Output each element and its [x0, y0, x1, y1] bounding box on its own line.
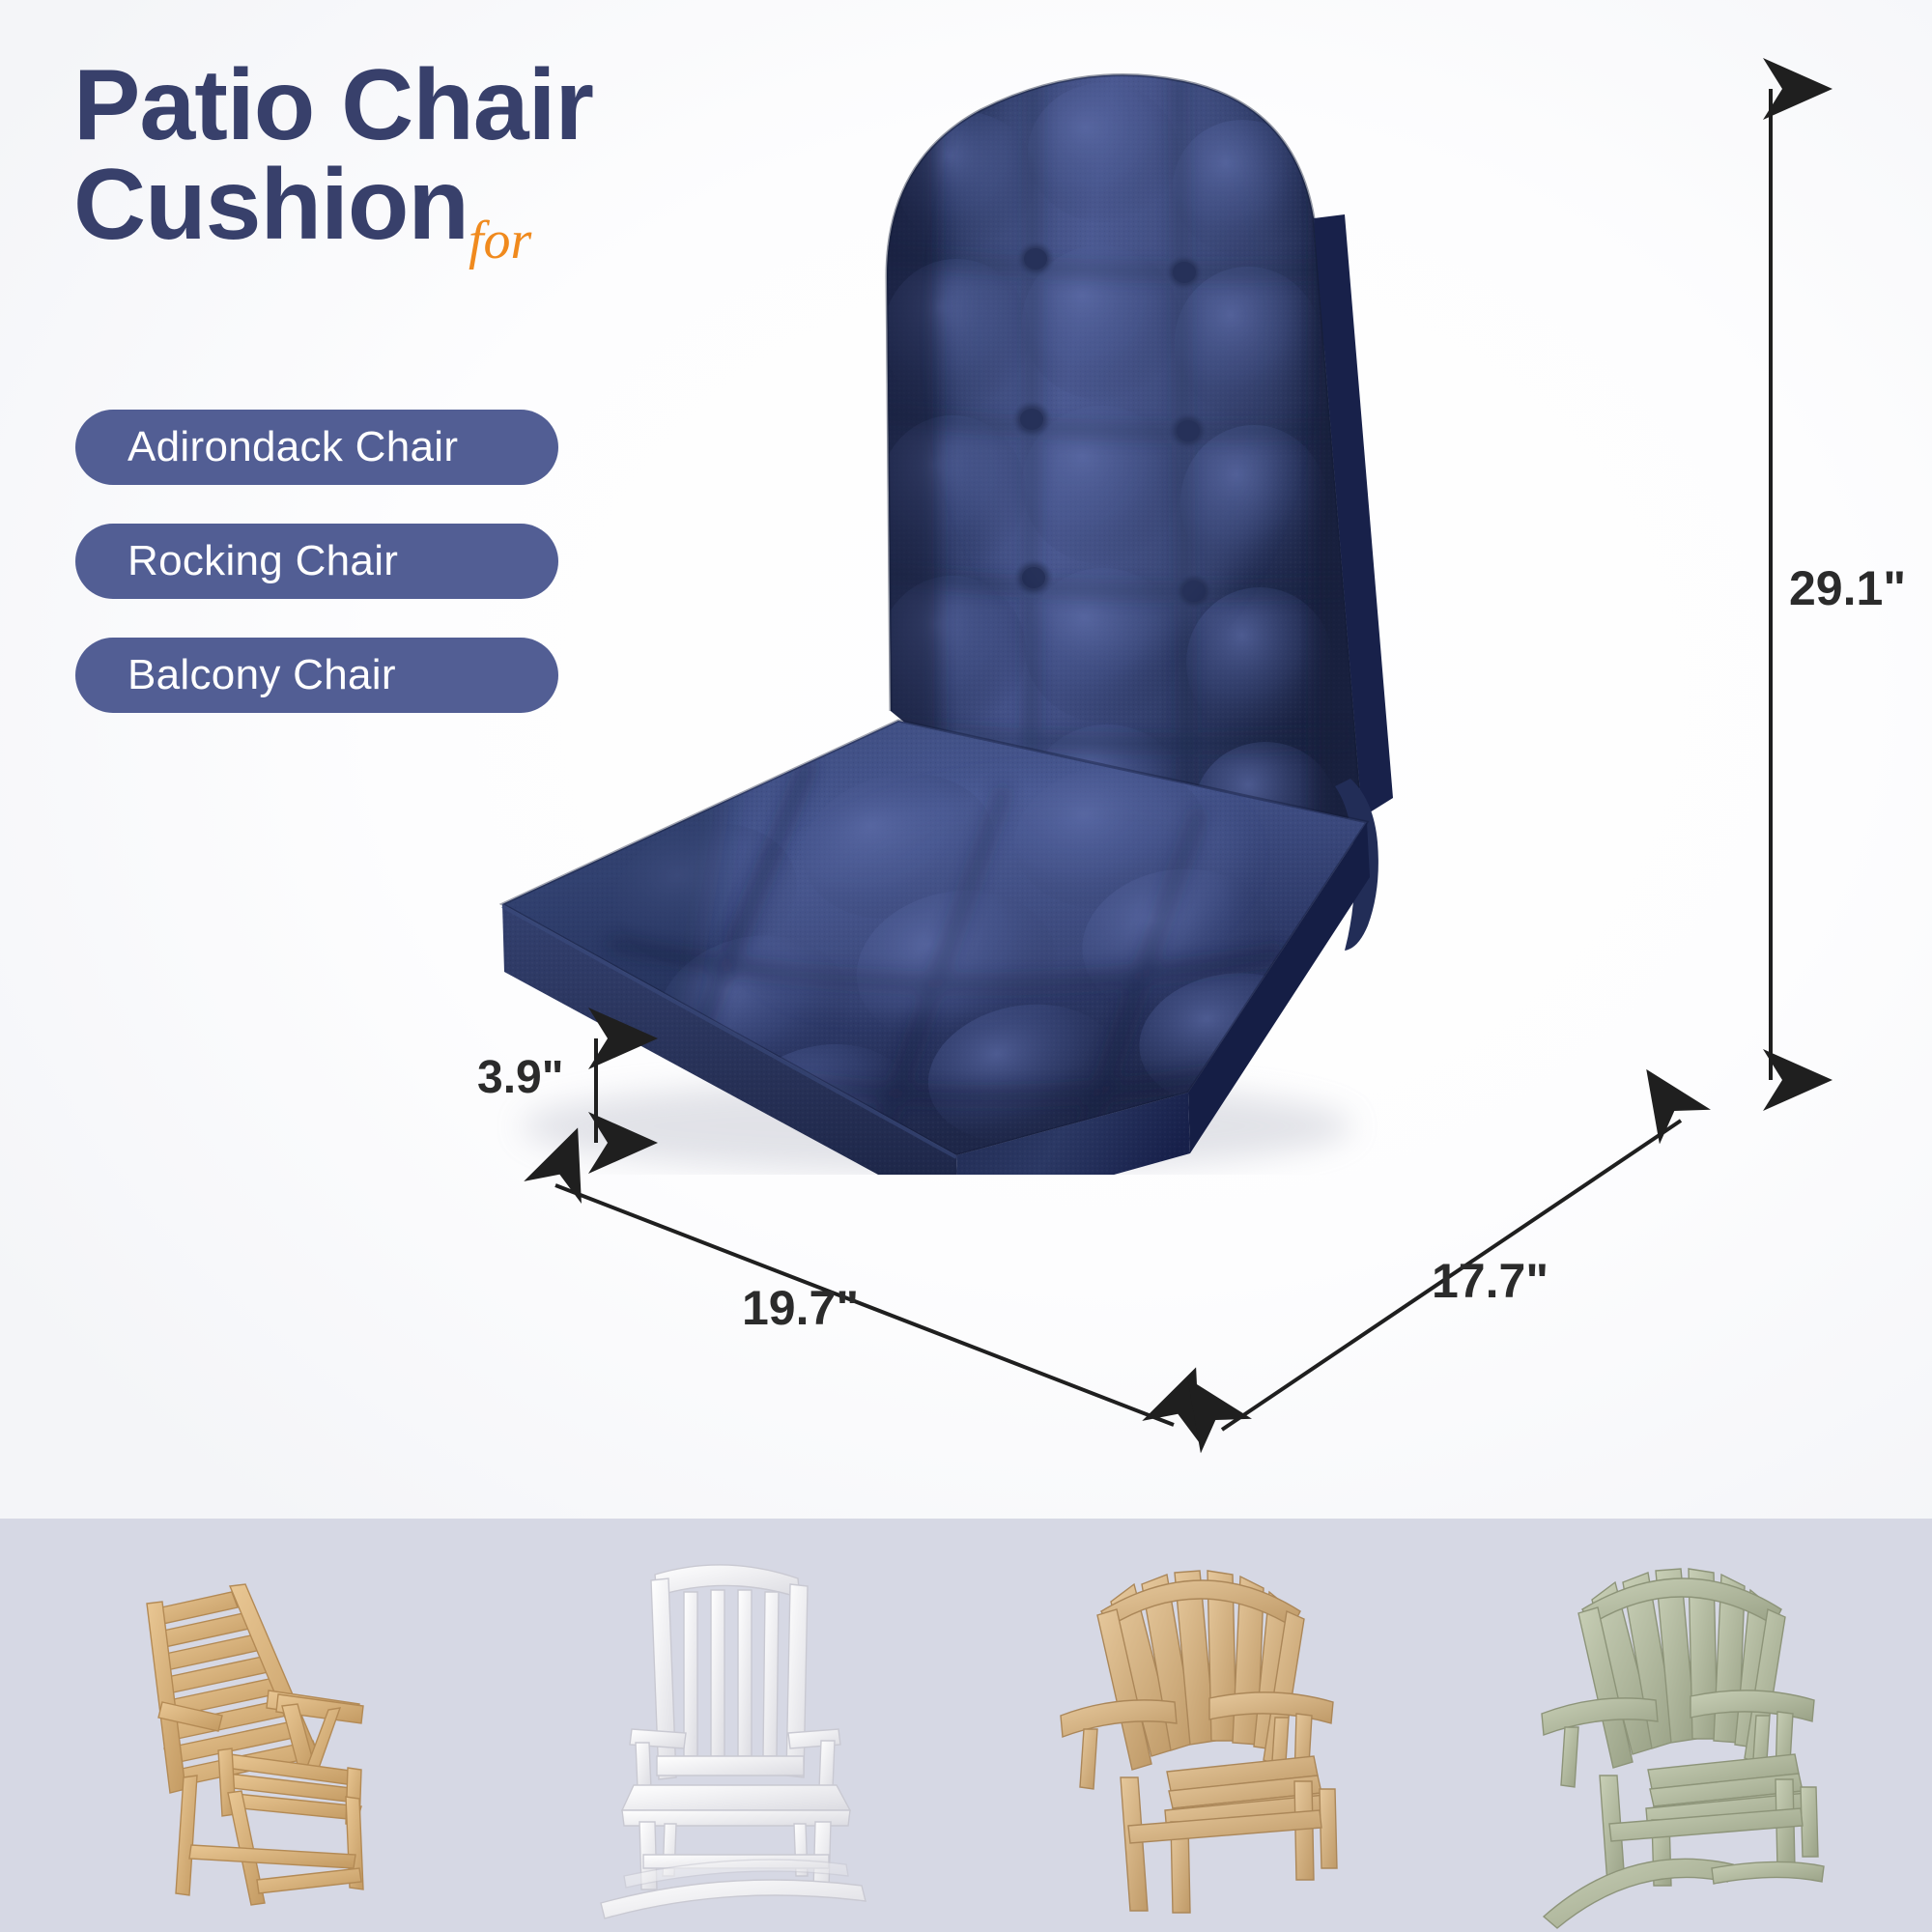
dimension-label-height: 29.1"	[1789, 560, 1906, 616]
product-image-cushion	[415, 44, 1478, 1175]
compatible-chairs-strip	[0, 1519, 1932, 1932]
dimension-width	[555, 1185, 1174, 1425]
chair-thumbnail-folding-recliner	[0, 1519, 483, 1932]
pill-label: Adirondack Chair	[128, 423, 458, 471]
title-line-2: Cushion	[73, 149, 469, 261]
chair-thumbnail-sage-adirondack-rocking	[1449, 1519, 1932, 1932]
pill-label: Rocking Chair	[128, 537, 398, 585]
chair-thumbnail-white-rocking	[483, 1519, 966, 1932]
dimension-label-width: 19.7"	[742, 1280, 859, 1336]
dimension-label-thickness: 3.9"	[477, 1051, 563, 1104]
chair-thumbnail-natural-adirondack	[966, 1519, 1449, 1932]
dimension-label-depth: 17.7"	[1432, 1253, 1548, 1309]
main-hero-panel: Patio Chair Cushion for Adirondack Chair…	[0, 0, 1932, 1519]
pill-label: Balcony Chair	[128, 651, 396, 699]
title-line-2-wrap: Cushion for	[73, 156, 469, 255]
